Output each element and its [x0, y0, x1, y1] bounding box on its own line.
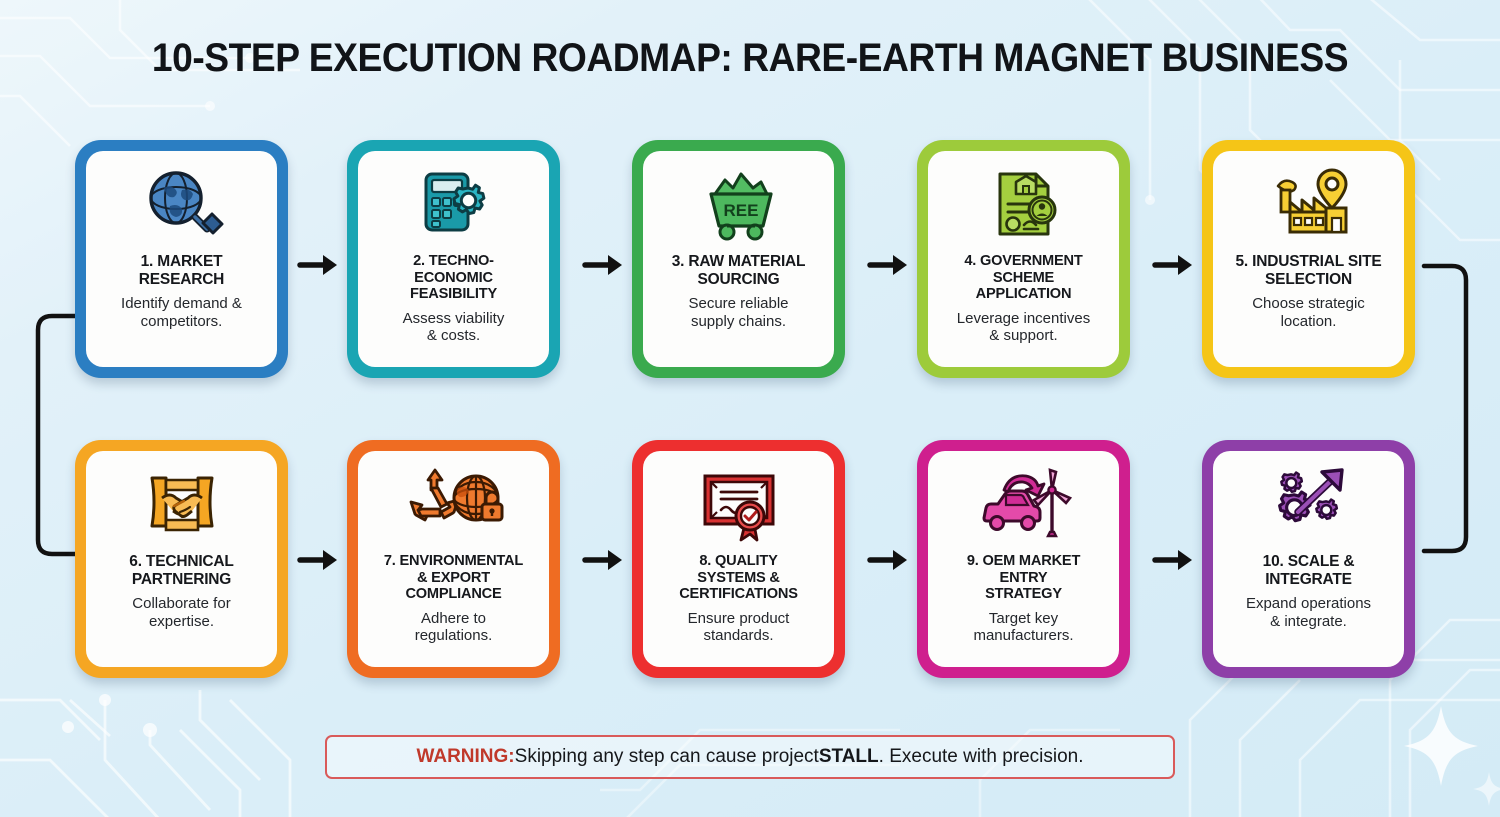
step-card-6-desc: Collaborate for expertise. — [132, 595, 230, 630]
step-card-9-title: 9. OEM MARKET ENTRY STRATEGY — [967, 553, 1080, 603]
step-card-10-title: 10. SCALE & INTEGRATE — [1263, 553, 1355, 588]
step-card-9-body: 9. OEM MARKET ENTRY STRATEGY Target key … — [928, 451, 1119, 667]
warning-text-after: . Execute with precision. — [879, 746, 1084, 768]
step-card-5-title: 5. INDUSTRIAL SITE SELECTION — [1236, 253, 1382, 288]
step-card-8[interactable]: 8. QUALITY SYSTEMS & CERTIFICATIONS Ensu… — [632, 440, 845, 678]
flow-arrow-2 — [582, 250, 626, 285]
step-card-6[interactable]: 6. TECHNICAL PARTNERING Collaborate for … — [75, 440, 288, 678]
page-title: 10-STEP EXECUTION ROADMAP: RARE-EARTH MA… — [53, 36, 1448, 81]
factory-location-pin-icon — [1264, 163, 1354, 247]
step-card-2[interactable]: 2. TECHNO- ECONOMIC FEASIBILITY Assess v… — [347, 140, 560, 378]
warning-banner: WARNING: Skipping any step can cause pro… — [325, 735, 1175, 779]
warning-text-before: Skipping any step can cause project — [515, 746, 819, 768]
step-card-10-desc: Expand operations & integrate. — [1246, 595, 1371, 630]
step-card-3[interactable]: REE 3. RAW MATERIAL SOURCING Secure reli… — [632, 140, 845, 378]
gears-growth-arrow-icon — [1264, 463, 1354, 547]
step-card-3-body: REE 3. RAW MATERIAL SOURCING Secure reli… — [643, 151, 834, 367]
ore-cart-ree-icon: REE — [695, 163, 783, 247]
step-card-5-desc: Choose strategic location. — [1252, 295, 1365, 330]
recycle-globe-lock-icon — [404, 463, 504, 547]
step-card-6-title: 6. TECHNICAL PARTNERING — [129, 553, 233, 588]
step-card-7-title: 7. ENVIRONMENTAL & EXPORT COMPLIANCE — [384, 553, 523, 603]
step-card-4[interactable]: 4. GOVERNMENT SCHEME APPLICATION Leverag… — [917, 140, 1130, 378]
step-card-8-body: 8. QUALITY SYSTEMS & CERTIFICATIONS Ensu… — [643, 451, 834, 667]
step-card-2-desc: Assess viability & costs. — [403, 310, 505, 345]
step-card-1[interactable]: 1. MARKET RESEARCH Identify demand & com… — [75, 140, 288, 378]
car-windturbine-icon — [976, 463, 1072, 547]
step-card-4-desc: Leverage incentives & support. — [957, 310, 1090, 345]
step-card-7-body: 7. ENVIRONMENTAL & EXPORT COMPLIANCE Adh… — [358, 451, 549, 667]
step-card-5-body: 5. INDUSTRIAL SITE SELECTION Choose stra… — [1213, 151, 1404, 367]
step-card-9[interactable]: 9. OEM MARKET ENTRY STRATEGY Target key … — [917, 440, 1130, 678]
flow-arrow-1 — [297, 250, 341, 285]
step-card-2-body: 2. TECHNO- ECONOMIC FEASIBILITY Assess v… — [358, 151, 549, 367]
step-card-6-body: 6. TECHNICAL PARTNERING Collaborate for … — [86, 451, 277, 667]
step-card-7-desc: Adhere to regulations. — [415, 610, 493, 645]
step-card-9-desc: Target key manufacturers. — [973, 610, 1073, 645]
step-card-2-title: 2. TECHNO- ECONOMIC FEASIBILITY — [410, 253, 497, 303]
flow-arrow-4 — [1152, 250, 1196, 285]
ore-cart-label: REE — [723, 201, 758, 220]
step-card-1-body: 1. MARKET RESEARCH Identify demand & com… — [86, 151, 277, 367]
step-card-4-body: 4. GOVERNMENT SCHEME APPLICATION Leverag… — [928, 151, 1119, 367]
government-document-icon — [982, 163, 1066, 247]
step-card-10[interactable]: 10. SCALE & INTEGRATE Expand operations … — [1202, 440, 1415, 678]
warning-emphasis: STALL — [819, 746, 879, 768]
flow-arrow-3 — [867, 250, 911, 285]
step-card-5[interactable]: 5. INDUSTRIAL SITE SELECTION Choose stra… — [1202, 140, 1415, 378]
step-card-1-title: 1. MARKET RESEARCH — [139, 253, 224, 288]
step-card-1-desc: Identify demand & competitors. — [121, 295, 242, 330]
step-card-3-title: 3. RAW MATERIAL SOURCING — [672, 253, 806, 288]
step-card-7[interactable]: 7. ENVIRONMENTAL & EXPORT COMPLIANCE Adh… — [347, 440, 560, 678]
handshake-icon — [140, 463, 224, 547]
flow-arrow-5 — [297, 545, 341, 580]
flow-arrow-8 — [1152, 545, 1196, 580]
flow-arrow-7 — [867, 545, 911, 580]
certificate-seal-icon — [695, 463, 783, 547]
step-card-3-desc: Secure reliable supply chains. — [688, 295, 788, 330]
step-card-8-desc: Ensure product standards. — [688, 610, 790, 645]
calculator-gear-icon — [412, 163, 496, 247]
warning-label: WARNING: — [416, 746, 514, 768]
step-card-4-title: 4. GOVERNMENT SCHEME APPLICATION — [964, 253, 1082, 303]
step-card-10-body: 10. SCALE & INTEGRATE Expand operations … — [1213, 451, 1404, 667]
globe-magnifier-icon — [140, 163, 224, 247]
step-card-8-title: 8. QUALITY SYSTEMS & CERTIFICATIONS — [679, 553, 798, 603]
flow-arrow-6 — [582, 545, 626, 580]
